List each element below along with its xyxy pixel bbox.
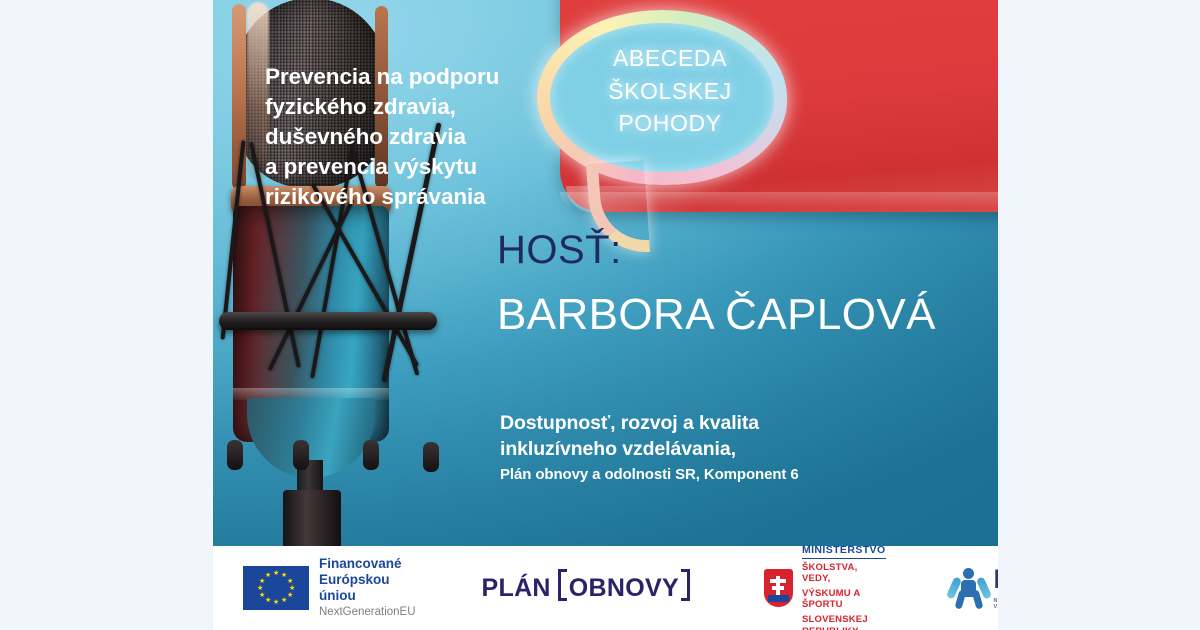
plan-obnovy-word-2: OBNOVY (569, 574, 679, 602)
hero-image: Prevencia na podporu fyzického zdravia, … (213, 0, 998, 546)
eu-line-2: Európskou úniou (319, 572, 416, 604)
bubble-title-line: POHODY (575, 107, 765, 140)
caption-line-2: inkluzívneho vzdelávania, (500, 437, 920, 463)
bubble-title-line: ABECEDA (575, 42, 765, 75)
ministry-line-2: ŠKOLSTVA, VEDY, (802, 562, 886, 585)
shock-mount-foot (363, 440, 379, 470)
nivam-name: NIVAM (994, 566, 998, 593)
plan-obnovy-bracketed-word: OBNOVY (558, 574, 690, 603)
nivam-logo: NIVAM NÁRODNÝ INŠTITÚT VZDELÁVANIA A MLÁ… (916, 557, 998, 619)
eu-funding-logo: ★ ★ ★ ★ ★ ★ ★ ★ ★ ★ ★ ★ Financované Euró… (213, 557, 442, 619)
speech-bubble: ABECEDA ŠKOLSKEJ POHODY (531, 2, 821, 252)
shock-mount-foot (227, 440, 243, 470)
plan-obnovy-logo: PLÁN OBNOVY (442, 557, 730, 619)
nivam-text: NIVAM NÁRODNÝ INŠTITÚT VZDELÁVANIA A MLÁ… (994, 566, 998, 610)
caption-line-3: Plán obnovy a odolnosti SR, Komponent 6 (500, 464, 920, 485)
project-caption: Dostupnosť, rozvoj a kvalita inkluzívneh… (500, 411, 920, 485)
poster-card: Prevencia na podporu fyzického zdravia, … (213, 0, 998, 630)
ministry-text: MINISTERSTVO ŠKOLSTVA, VEDY, VÝSKUMU A Š… (802, 539, 886, 630)
nivam-subtitle: NÁRODNÝ INŠTITÚT VZDELÁVANIA A MLÁDEŽE (994, 598, 998, 610)
slovak-coat-of-arms-icon (764, 569, 793, 607)
ministry-logo: MINISTERSTVO ŠKOLSTVA, VEDY, VÝSKUMU A Š… (730, 557, 916, 619)
plan-obnovy-word-1: PLÁN (482, 574, 551, 603)
caption-line-1: Dostupnosť, rozvoj a kvalita (500, 411, 920, 437)
eu-flag-icon: ★ ★ ★ ★ ★ ★ ★ ★ ★ ★ ★ ★ (243, 566, 309, 610)
microphone-base (283, 490, 341, 546)
host-name: BARBORA ČAPLOVÁ (497, 290, 936, 340)
bubble-title-line: ŠKOLSKEJ (575, 75, 765, 108)
bracket-right-icon (681, 569, 690, 601)
shock-mount-ring (219, 312, 437, 330)
shock-mount-foot (293, 440, 309, 470)
eu-funding-text: Financované Európskou úniou NextGenerati… (319, 556, 416, 619)
eu-line-3: NextGenerationEU (319, 606, 416, 620)
ministry-line-3: VÝSKUMU A ŠPORTU (802, 588, 886, 611)
ministry-line-1: MINISTERSTVO (802, 544, 886, 559)
nivam-figure-icon (948, 567, 990, 609)
host-label: HOSŤ: (497, 228, 622, 273)
shock-mount-foot (423, 442, 439, 472)
speech-bubble-text: ABECEDA ŠKOLSKEJ POHODY (575, 42, 765, 140)
ministry-line-4: SLOVENSKEJ REPUBLIKY (802, 614, 886, 630)
footer-logo-bar: ★ ★ ★ ★ ★ ★ ★ ★ ★ ★ ★ ★ Financované Euró… (213, 546, 998, 630)
eu-line-1: Financované (319, 556, 416, 572)
poster-page: Prevencia na podporu fyzického zdravia, … (0, 0, 1200, 630)
bracket-left-icon (558, 569, 567, 601)
